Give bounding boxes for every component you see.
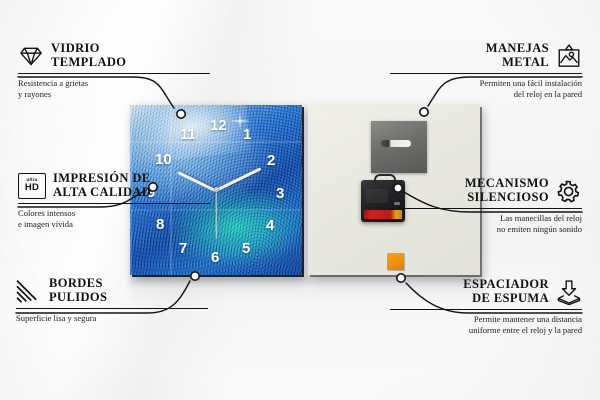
callout-title-line-1: IMPRESIÓN DE: [53, 172, 151, 186]
callout-description-line-1: Permite mantener una distancia: [390, 314, 582, 325]
clock-second-hand: [215, 191, 216, 239]
callout-header: VIDRIO TEMPLADO: [18, 42, 210, 69]
callout-divider: [390, 309, 582, 310]
callout-description-line-2: no emiten ningún sonido: [390, 224, 582, 235]
callout-title-line-2: PULIDOS: [49, 291, 107, 305]
callout-description-line-2: uniforme entre el reloj y la pared: [390, 325, 582, 336]
callout-header: BORDES PULIDOS: [16, 277, 208, 304]
callout-description-line-1: Las manecillas del reloj: [390, 213, 582, 224]
callout-title-line-2: ALTA CALIDAD: [53, 186, 151, 200]
metal-hanger-plate: [371, 121, 427, 173]
hanger-keyhole-slot: [381, 140, 411, 147]
arrow-down-onto-pad-icon: [556, 279, 582, 305]
callout-title: IMPRESIÓN DE ALTA CALIDAD: [53, 172, 151, 199]
callout-title: MECANISMO SILENCIOSO: [465, 177, 549, 204]
callout-description-line-1: Resistencia a grietas: [18, 78, 210, 89]
clock-hand-hub: [214, 187, 219, 192]
callout-divider: [16, 308, 208, 309]
ultra-hd-large-label: HD: [25, 183, 39, 193]
callout-description-line-2: e imagen vívida: [18, 219, 210, 230]
callout-manejas-metal[interactable]: MANEJAS METAL Permiten una fácil instala…: [390, 42, 582, 99]
callout-title: ESPACIADOR DE ESPUMA: [463, 278, 549, 305]
foam-spacer-pad: [387, 253, 404, 270]
clock-numeral-12: 12: [210, 118, 227, 133]
callout-mecanismo-silencioso[interactable]: MECANISMO SILENCIOSO Las manecillas del …: [390, 177, 582, 234]
clock-numeral-5: 5: [242, 241, 250, 256]
clock-numeral-6: 6: [211, 250, 219, 265]
clock-specular-star: [223, 108, 257, 134]
callout-espaciador-espuma[interactable]: ESPACIADOR DE ESPUMA Permite mantener un…: [390, 278, 582, 335]
callout-title-line-1: VIDRIO: [51, 42, 126, 56]
callout-divider: [390, 73, 582, 74]
callout-divider: [18, 73, 210, 74]
clock-numeral-3: 3: [276, 186, 284, 201]
mechanism-face-plate: [366, 189, 388, 203]
callout-description-line-2: del reloj en la pared: [390, 89, 582, 100]
callout-title-line-2: TEMPLADO: [51, 56, 126, 70]
ultra-hd-icon: ultra HD: [18, 173, 46, 199]
clock-numeral-4: 4: [266, 218, 274, 233]
diagonal-lines-icon: [16, 278, 42, 304]
clock-numeral-2: 2: [267, 153, 275, 168]
callout-header: ESPACIADOR DE ESPUMA: [390, 278, 582, 305]
callout-title-line-2: SILENCIOSO: [465, 191, 549, 205]
infographic-canvas: 12 1 2 3 4 5 6 7 8 9 10 11: [0, 0, 600, 400]
callout-header: ultra HD IMPRESIÓN DE ALTA CALIDAD: [18, 172, 210, 199]
callout-description-line-2: y rayones: [18, 89, 210, 100]
clock-numeral-10: 10: [155, 152, 172, 167]
callout-bordes-pulidos[interactable]: BORDES PULIDOS Superficie lisa y segura: [16, 277, 208, 324]
callout-description-line-1: Superficie lisa y segura: [16, 313, 208, 324]
clock-numeral-1: 1: [243, 127, 251, 142]
callout-vidrio-templado[interactable]: VIDRIO TEMPLADO Resistencia a grietas y …: [18, 42, 210, 99]
callout-title-line-2: METAL: [486, 56, 549, 70]
callout-title: MANEJAS METAL: [486, 42, 549, 69]
gear-icon: [556, 178, 582, 204]
diamond-icon: [18, 43, 44, 69]
callout-title-line-1: ESPACIADOR: [463, 278, 549, 292]
callout-impresion-alta-calidad[interactable]: ultra HD IMPRESIÓN DE ALTA CALIDAD Color…: [18, 172, 210, 229]
callout-title: VIDRIO TEMPLADO: [51, 42, 126, 69]
callout-title-line-1: MANEJAS: [486, 42, 549, 56]
callout-title-line-1: BORDES: [49, 277, 107, 291]
hanging-picture-icon: [556, 43, 582, 69]
callout-header: MECANISMO SILENCIOSO: [390, 177, 582, 204]
clock-numeral-7: 7: [179, 241, 187, 256]
callout-divider: [18, 203, 210, 204]
callout-title: BORDES PULIDOS: [49, 277, 107, 304]
callout-title-line-1: MECANISMO: [465, 177, 549, 191]
callout-header: MANEJAS METAL: [390, 42, 582, 69]
callout-title-line-2: DE ESPUMA: [463, 292, 549, 306]
callout-description-line-1: Permiten una fácil instalación: [390, 78, 582, 89]
clock-numeral-11: 11: [180, 127, 196, 142]
callout-divider: [390, 208, 582, 209]
callout-description-line-1: Colores intensos: [18, 208, 210, 219]
